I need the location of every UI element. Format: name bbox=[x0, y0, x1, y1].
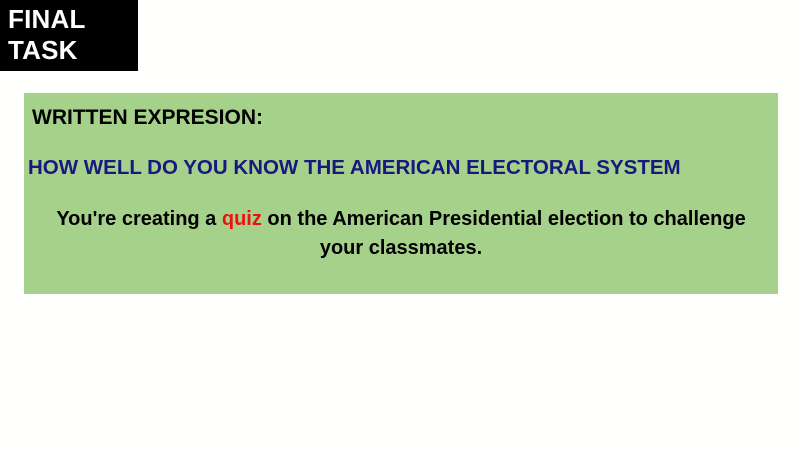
title-banner-line-2: TASK bbox=[8, 35, 138, 66]
slide-canvas: FINAL TASK WRITTEN EXPRESION: HOW WELL D… bbox=[0, 0, 800, 450]
main-heading: HOW WELL DO YOU KNOW THE AMERICAN ELECTO… bbox=[28, 155, 681, 180]
content-panel: WRITTEN EXPRESION: HOW WELL DO YOU KNOW … bbox=[24, 93, 778, 294]
title-banner-line-1: FINAL bbox=[8, 4, 138, 35]
task-description-part-1: You're creating a bbox=[56, 208, 222, 230]
subject-label: WRITTEN EXPRESION: bbox=[32, 105, 263, 130]
task-description-highlight: quiz bbox=[222, 208, 262, 230]
task-description: You're creating a quiz on the American P… bbox=[54, 205, 748, 263]
title-banner: FINAL TASK bbox=[0, 0, 138, 71]
task-description-part-2: on the American Presidential election to… bbox=[262, 208, 746, 259]
